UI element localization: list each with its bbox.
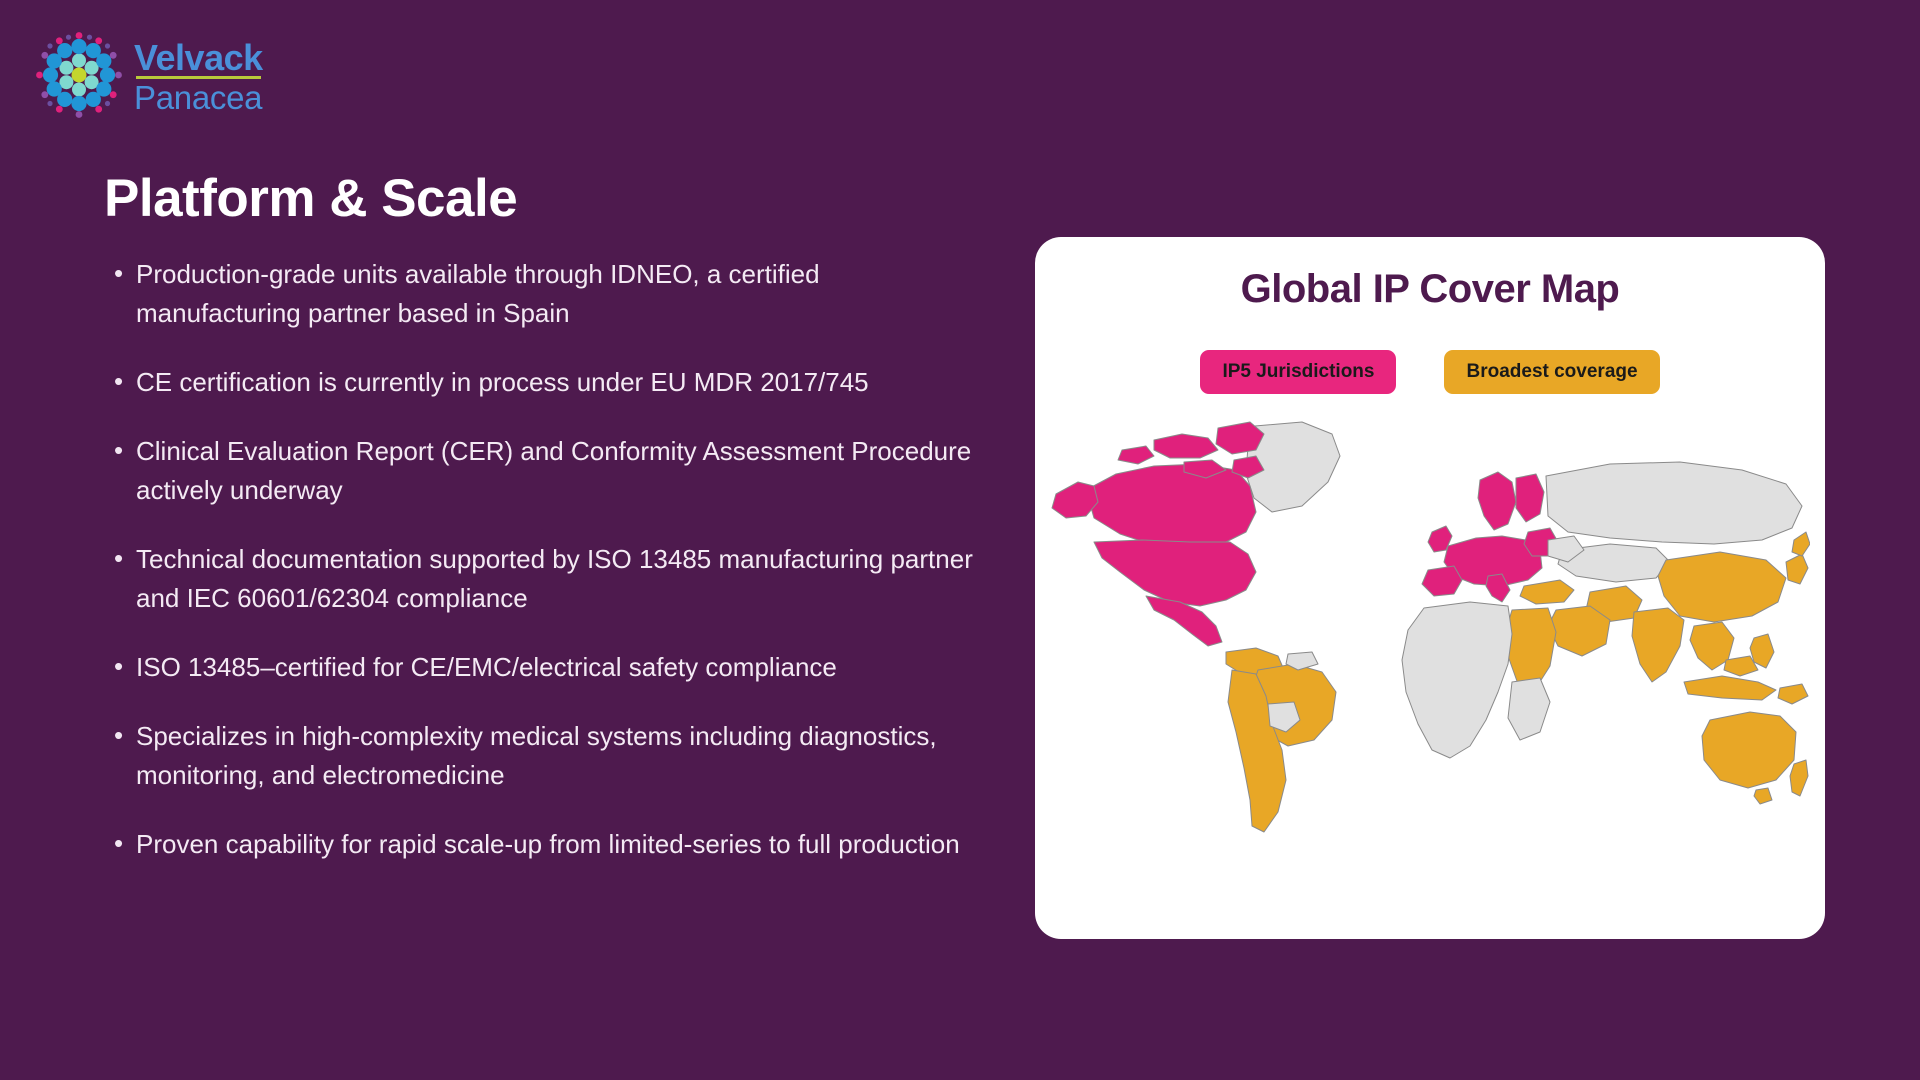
- map-region-china: [1658, 552, 1786, 622]
- map-region-africa-east: [1508, 678, 1550, 740]
- bullet-list: • Production-grade units available throu…: [108, 255, 978, 894]
- list-item: • Production-grade units available throu…: [108, 255, 978, 333]
- map-region-scandinavia: [1478, 472, 1516, 530]
- bullet-marker-icon: •: [108, 432, 136, 510]
- map-region-united-states: [1094, 540, 1256, 606]
- map-region-tasmania: [1754, 788, 1772, 804]
- world-map: [1050, 420, 1810, 860]
- map-region-alaska: [1052, 482, 1098, 518]
- list-item-text: Clinical Evaluation Report (CER) and Con…: [136, 432, 978, 510]
- list-item: • Clinical Evaluation Report (CER) and C…: [108, 432, 978, 510]
- list-item: • ISO 13485–certified for CE/EMC/electri…: [108, 648, 978, 687]
- map-region-turkey: [1520, 580, 1574, 604]
- map-region-indonesia: [1684, 676, 1776, 700]
- dot-mandala-logo-icon: [36, 32, 122, 118]
- list-item-text: Proven capability for rapid scale-up fro…: [136, 825, 978, 864]
- brand-wordmark: Velvack Panacea: [134, 36, 263, 114]
- bullet-marker-icon: •: [108, 717, 136, 795]
- map-region-egypt-sudan: [1506, 608, 1556, 688]
- map-region-australia: [1702, 712, 1796, 788]
- map-region-russia: [1546, 462, 1802, 544]
- map-region-korea-japan: [1786, 554, 1808, 584]
- map-legend: IP5 Jurisdictions Broadest coverage: [1200, 350, 1659, 394]
- map-region-finland-sweden: [1516, 474, 1544, 522]
- map-region-japan: [1792, 532, 1810, 556]
- list-item: • Technical documentation supported by I…: [108, 540, 978, 618]
- bullet-marker-icon: •: [108, 648, 136, 687]
- list-item-text: Specializes in high-complexity medical s…: [136, 717, 978, 795]
- brand-name-secondary: Panacea: [134, 81, 263, 114]
- map-title: Global IP Cover Map: [1241, 267, 1620, 312]
- bullet-marker-icon: •: [108, 363, 136, 402]
- slide-root: Velvack Panacea Platform & Scale • Produ…: [0, 0, 1920, 1080]
- bullet-marker-icon: •: [108, 540, 136, 618]
- map-region-png: [1778, 684, 1808, 704]
- list-item: • Specializes in high-complexity medical…: [108, 717, 978, 795]
- map-region-canada-arctic-3: [1118, 446, 1154, 464]
- map-region-africa: [1402, 602, 1512, 758]
- list-item-text: Production-grade units available through…: [136, 255, 978, 333]
- page-title: Platform & Scale: [104, 168, 517, 229]
- list-item-text: ISO 13485–certified for CE/EMC/electrica…: [136, 648, 978, 687]
- map-region-arabia: [1548, 606, 1610, 656]
- map-region-new-zealand: [1790, 760, 1808, 796]
- map-region-india: [1632, 608, 1684, 682]
- list-item-text: Technical documentation supported by ISO…: [136, 540, 978, 618]
- legend-badge-ip5[interactable]: IP5 Jurisdictions: [1200, 350, 1396, 394]
- bullet-marker-icon: •: [108, 255, 136, 333]
- list-item: • CE certification is currently in proce…: [108, 363, 978, 402]
- map-region-iberia: [1422, 566, 1462, 596]
- brand-name-primary: Velvack: [134, 40, 263, 79]
- map-region-canada: [1086, 464, 1256, 546]
- legend-badge-broadest[interactable]: Broadest coverage: [1444, 350, 1659, 394]
- list-item: • Proven capability for rapid scale-up f…: [108, 825, 978, 864]
- map-region-canada-arctic: [1154, 434, 1218, 458]
- map-card: Global IP Cover Map IP5 Jurisdictions Br…: [1035, 237, 1825, 939]
- list-item-text: CE certification is currently in process…: [136, 363, 978, 402]
- bullet-marker-icon: •: [108, 825, 136, 864]
- brand-logo: Velvack Panacea: [36, 32, 263, 118]
